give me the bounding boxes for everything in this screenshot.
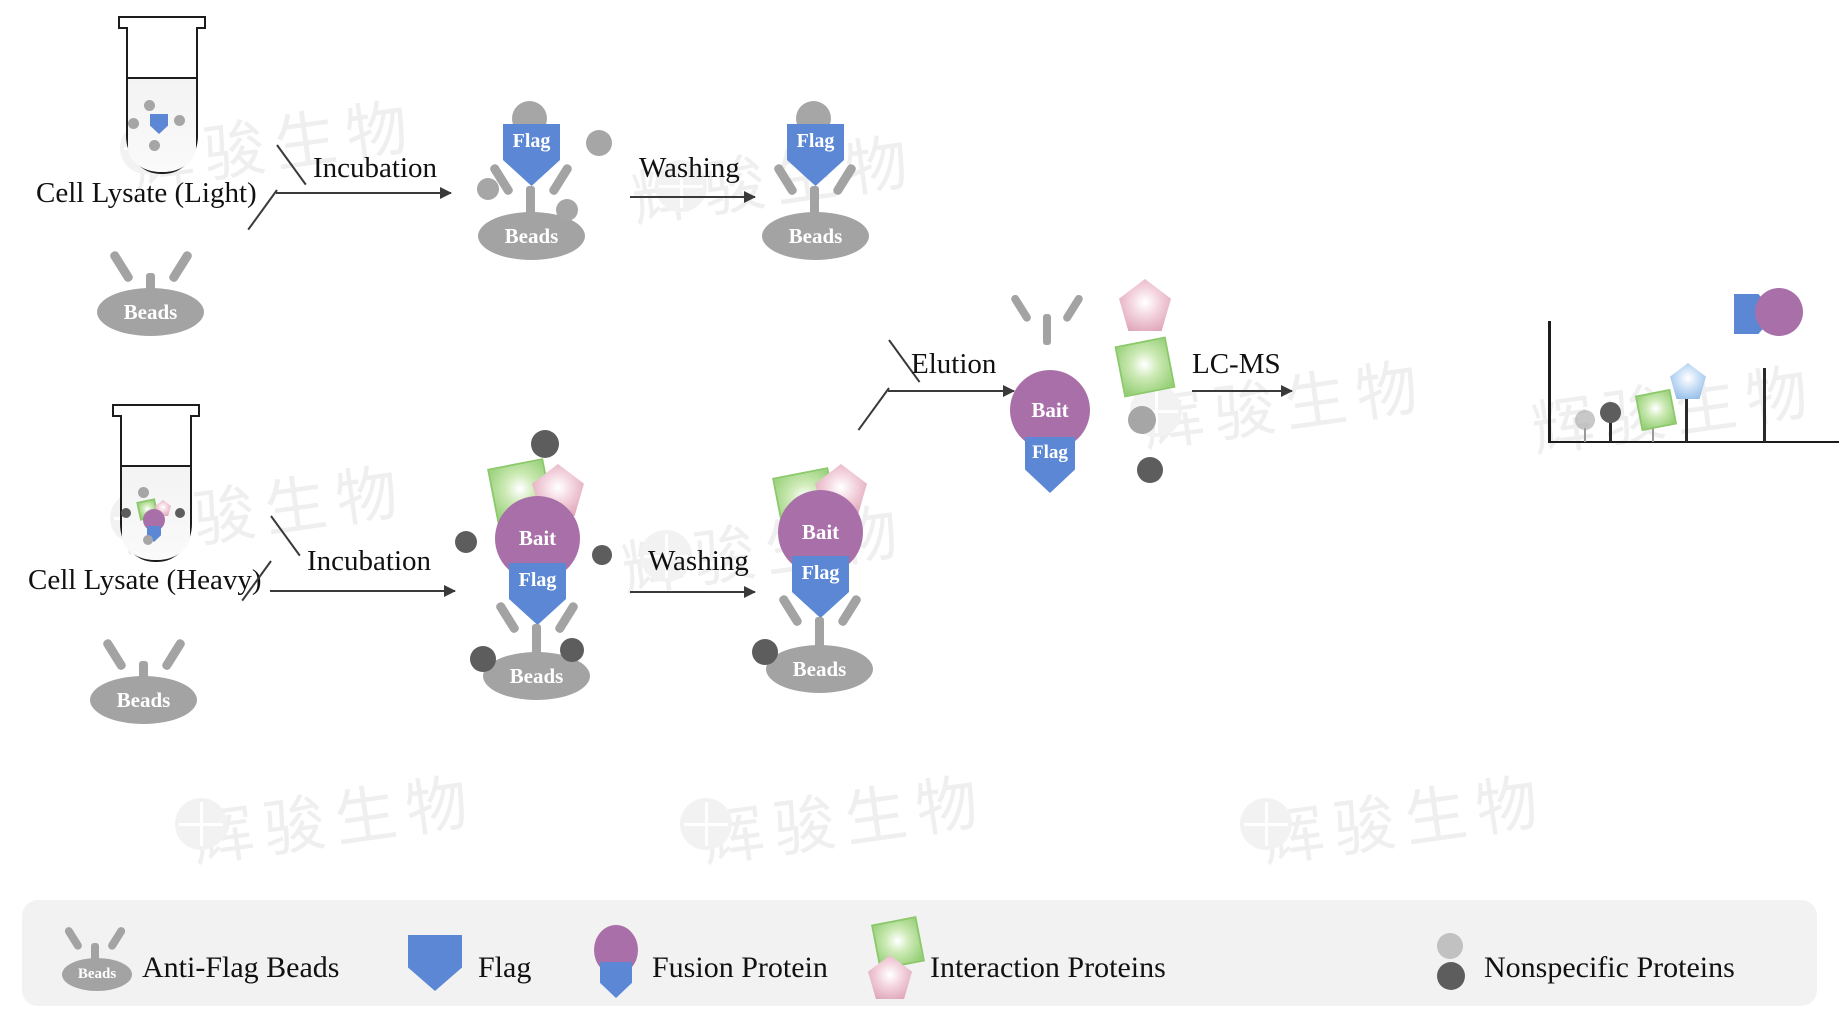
step-label-incubation-heavy: Incubation bbox=[307, 545, 431, 578]
arrow-lcms bbox=[1192, 390, 1292, 392]
antibody-arm-left bbox=[102, 638, 128, 672]
step-label-washing-heavy: Washing bbox=[648, 545, 749, 578]
bait-label: Bait bbox=[1031, 398, 1068, 422]
antibody-arm-left bbox=[109, 250, 135, 284]
bait-label: Bait bbox=[802, 520, 839, 544]
antibody-arm-right bbox=[554, 601, 580, 635]
antibody-arm-right bbox=[548, 163, 574, 197]
beads-label: Beads bbox=[78, 966, 116, 982]
nonspecific-protein-icon bbox=[1137, 457, 1163, 483]
nonspecific-protein-icon bbox=[1600, 402, 1621, 423]
watermark-text: 辉骏生物 bbox=[185, 750, 483, 879]
legend-label-nonspecific-proteins: Nonspecific Proteins bbox=[1484, 951, 1735, 985]
antibody-arm-right bbox=[837, 594, 863, 628]
watermark-logo-icon bbox=[175, 798, 227, 850]
nonspecific-protein-icon bbox=[1575, 410, 1595, 430]
watermark-text: 辉骏生物 bbox=[1525, 340, 1823, 469]
antibody-arm-left bbox=[773, 163, 799, 197]
antibody-arm-left bbox=[1010, 293, 1033, 323]
watermark-logo-icon bbox=[1240, 798, 1292, 850]
antibody-arm-right bbox=[832, 163, 858, 197]
beads-icon: Beads bbox=[90, 676, 197, 724]
interaction-protein-icon bbox=[1670, 363, 1706, 399]
nonspecific-protein-icon bbox=[174, 115, 185, 126]
fusion-protein-icon bbox=[1755, 288, 1803, 336]
arrow-incubation-heavy bbox=[270, 590, 455, 592]
antibody-stem bbox=[1043, 314, 1051, 345]
arrow-washing-light bbox=[630, 196, 755, 198]
step-label-lcms: LC-MS bbox=[1192, 348, 1281, 381]
nonspecific-protein-icon bbox=[556, 199, 578, 221]
beads-label: Beads bbox=[789, 224, 843, 248]
nonspecific-protein-icon bbox=[477, 178, 499, 200]
watermark-text: 辉骏生物 bbox=[1135, 335, 1433, 464]
nonspecific-protein-icon bbox=[560, 638, 584, 662]
arrow-washing-heavy bbox=[630, 591, 755, 593]
arrow-incubation-light bbox=[276, 192, 451, 194]
antibody-arm-left bbox=[495, 601, 521, 635]
bait-label: Bait bbox=[519, 526, 556, 550]
antibody-arm-left bbox=[778, 594, 804, 628]
legend-label-interaction-proteins: Interaction Proteins bbox=[930, 951, 1166, 985]
spectrum-peak bbox=[1763, 368, 1766, 442]
watermark-text: 辉骏生物 bbox=[1255, 750, 1553, 879]
step-label-elution: Elution bbox=[911, 348, 996, 381]
beads-icon: Beads bbox=[62, 958, 132, 991]
nonspecific-protein-icon bbox=[128, 118, 139, 129]
flag-label: Flag bbox=[802, 562, 840, 584]
beads-label: Beads bbox=[505, 224, 559, 248]
label-cell-lysate-heavy: Cell Lysate (Heavy) bbox=[28, 564, 262, 597]
beads-icon: Beads bbox=[762, 212, 869, 260]
spectrum-y-axis bbox=[1548, 321, 1551, 443]
nonspecific-protein-icon bbox=[143, 535, 153, 545]
watermark-logo-icon bbox=[680, 798, 732, 850]
beads-label: Beads bbox=[793, 657, 847, 681]
beads-label: Beads bbox=[117, 688, 171, 712]
legend-label-anti-flag-beads: Anti-Flag Beads bbox=[142, 951, 339, 985]
antibody-arm-right bbox=[1062, 293, 1085, 323]
spectrum-peak bbox=[1609, 422, 1612, 442]
interaction-protein-icon bbox=[1635, 389, 1677, 431]
interaction-protein-icon bbox=[1115, 337, 1176, 398]
spectrum-peak bbox=[1685, 398, 1688, 442]
flag-label: Flag bbox=[513, 130, 551, 152]
antibody-arm-right bbox=[168, 250, 194, 284]
nonspecific-protein-icon bbox=[455, 531, 477, 553]
nonspecific-protein-icon bbox=[1437, 933, 1463, 959]
spectrum-peak bbox=[1584, 428, 1586, 442]
nonspecific-protein-icon bbox=[149, 140, 160, 151]
legend-label-flag: Flag bbox=[478, 951, 531, 985]
arrow-elution bbox=[888, 390, 1014, 392]
nonspecific-protein-icon bbox=[752, 639, 778, 665]
nonspecific-protein-icon bbox=[586, 130, 612, 156]
watermark-text: 辉骏生物 bbox=[695, 750, 993, 879]
nonspecific-protein-icon bbox=[138, 487, 149, 498]
tube-light bbox=[118, 16, 206, 174]
step-label-washing-light: Washing bbox=[639, 152, 740, 185]
flag-shield-icon: Flag bbox=[1025, 437, 1075, 493]
flag-label: Flag bbox=[797, 130, 835, 152]
nonspecific-protein-icon bbox=[144, 100, 155, 111]
nonspecific-protein-icon bbox=[531, 430, 559, 458]
legend-label-fusion-protein: Fusion Protein bbox=[652, 951, 828, 985]
nonspecific-protein-icon bbox=[175, 508, 185, 518]
beads-label: Beads bbox=[510, 664, 564, 688]
nonspecific-protein-icon bbox=[470, 646, 496, 672]
antibody-arm-right bbox=[161, 638, 187, 672]
flag-label: Flag bbox=[519, 569, 557, 591]
flag-label: Flag bbox=[1032, 442, 1068, 463]
beads-label: Beads bbox=[124, 300, 178, 324]
nonspecific-protein-icon bbox=[1437, 962, 1465, 990]
spectrum-x-axis bbox=[1548, 441, 1839, 443]
diagram-canvas: 辉骏生物 辉骏生物 辉骏生物 辉骏生物 辉骏生物 辉骏生物 辉骏生物 辉骏生物 … bbox=[0, 0, 1839, 1035]
beads-icon: Beads bbox=[97, 288, 204, 336]
nonspecific-protein-icon bbox=[592, 545, 612, 565]
interaction-protein-icon bbox=[1119, 279, 1171, 331]
nonspecific-protein-icon bbox=[121, 508, 131, 518]
nonspecific-protein-icon bbox=[1128, 406, 1156, 434]
antibody-icon bbox=[1021, 289, 1073, 345]
beads-icon: Beads bbox=[766, 645, 873, 693]
label-cell-lysate-light: Cell Lysate (Light) bbox=[36, 177, 257, 210]
step-label-incubation-light: Incubation bbox=[313, 152, 437, 185]
tube-body bbox=[126, 27, 198, 174]
